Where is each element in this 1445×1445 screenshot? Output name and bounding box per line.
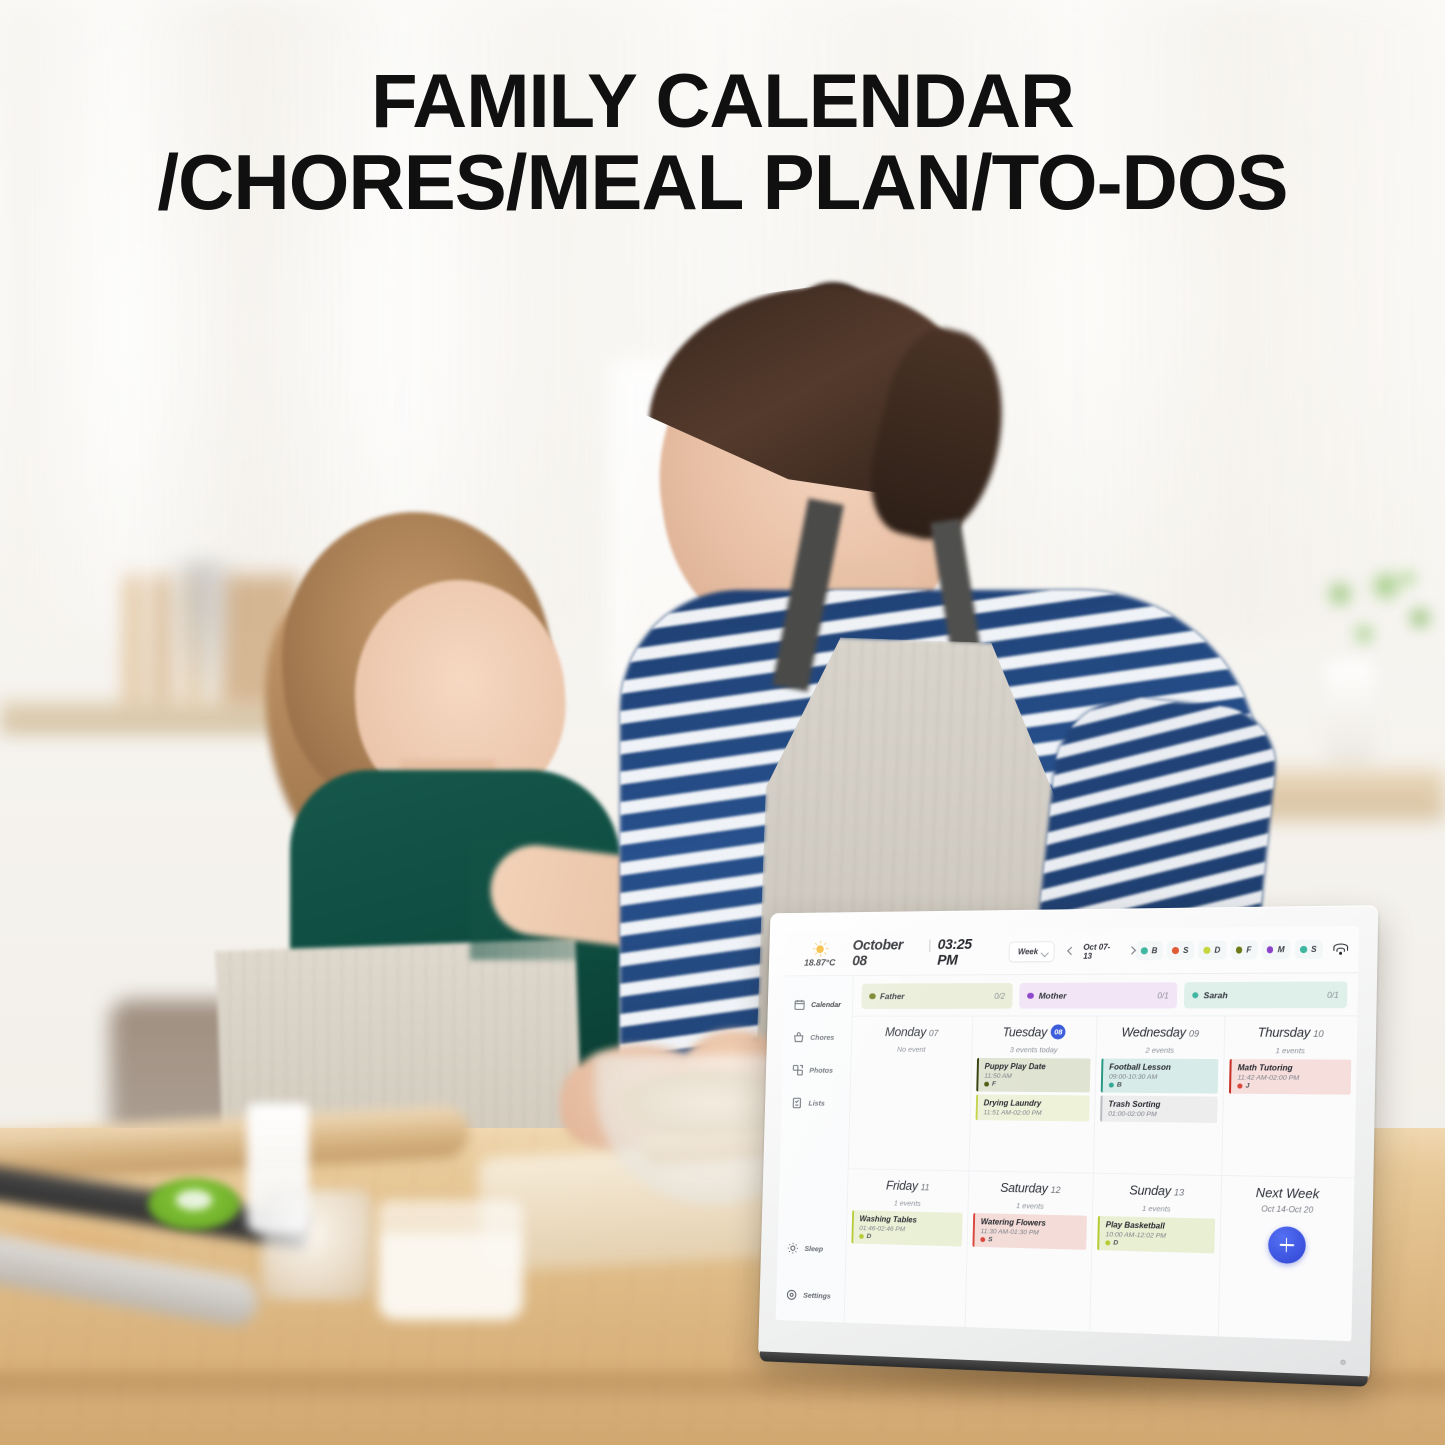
add-event-button[interactable] bbox=[1267, 1226, 1305, 1264]
member-chip-initial: S bbox=[1183, 946, 1189, 955]
date-time-display: October 08 | 03:25 PM bbox=[852, 936, 996, 969]
chore-summary-count: 0/1 bbox=[1157, 991, 1168, 1000]
event-assignee-initial: D bbox=[1113, 1240, 1118, 1247]
member-chip-d[interactable]: D bbox=[1198, 941, 1226, 960]
event-assignee: F bbox=[984, 1081, 1085, 1089]
member-chip-m[interactable]: M bbox=[1261, 940, 1291, 960]
day-header: Friday11 bbox=[853, 1176, 964, 1196]
event-assignee: J bbox=[1237, 1083, 1345, 1091]
weather-widget[interactable]: 18.87°C bbox=[785, 938, 854, 968]
day-header: Monday07 bbox=[857, 1023, 968, 1041]
chore-summary-father[interactable]: Father 0/2 bbox=[861, 983, 1013, 1009]
date-time-separator: | bbox=[928, 936, 932, 952]
chores-icon bbox=[793, 1031, 805, 1044]
wifi-icon[interactable] bbox=[1332, 942, 1349, 955]
day-name: Thursday bbox=[1258, 1026, 1311, 1040]
event-title: Football Lesson bbox=[1109, 1063, 1213, 1073]
event-assignee: S bbox=[980, 1236, 1081, 1246]
member-chip-b[interactable]: B bbox=[1136, 941, 1164, 960]
sidebar-item-photos[interactable]: Photos bbox=[782, 1053, 851, 1086]
event-item[interactable]: Football Lesson 09:00-10:30 AM B bbox=[1101, 1059, 1219, 1094]
event-assignee-initial: F bbox=[992, 1081, 996, 1088]
chevron-right-icon[interactable] bbox=[1128, 945, 1136, 956]
day-cell-next-week[interactable]: Next Week Oct 14-Oct 20 bbox=[1219, 1176, 1355, 1341]
calendar-week-grid: Monday07 No event Tuesday08 3 events tod… bbox=[845, 1016, 1358, 1341]
day-number: 11 bbox=[921, 1182, 930, 1192]
event-list: Math Tutoring 11:42 AM-02:00 PM J bbox=[1229, 1059, 1351, 1095]
chevron-left-icon[interactable] bbox=[1066, 946, 1074, 957]
sun-icon bbox=[812, 940, 828, 957]
day-header: Saturday12 bbox=[974, 1178, 1088, 1198]
event-title: Play Basketball bbox=[1106, 1220, 1210, 1232]
event-time: 11:50 AM bbox=[984, 1072, 1085, 1080]
view-selector[interactable]: Week bbox=[1009, 941, 1055, 962]
day-event-count: 1 events bbox=[973, 1200, 1087, 1211]
glass-jar bbox=[262, 1190, 372, 1300]
member-chip-initial: F bbox=[1246, 945, 1251, 954]
event-assignee: D bbox=[1105, 1239, 1209, 1249]
day-cell-monday[interactable]: Monday07 No event bbox=[849, 1017, 974, 1172]
sun-icon bbox=[787, 1241, 799, 1254]
event-title: Trash Sorting bbox=[1108, 1100, 1212, 1110]
event-item[interactable]: Washing Tables 01:46-02:46 PM D bbox=[851, 1210, 962, 1246]
day-header: Thursday10 bbox=[1230, 1024, 1352, 1043]
current-date: October 08 bbox=[852, 938, 921, 970]
event-list: Puppy Play Date 11:50 AM F Drying Laundr… bbox=[976, 1058, 1091, 1121]
event-time: 11:42 AM-02:00 PM bbox=[1237, 1074, 1345, 1082]
week-range-nav: Oct 07-13 bbox=[1066, 942, 1136, 961]
chore-summary-mother[interactable]: Mother 0/1 bbox=[1019, 982, 1177, 1008]
sidebar-item-label: Calendar bbox=[811, 1000, 841, 1009]
day-cell-thursday[interactable]: Thursday10 1 events Math Tutoring 11:42 … bbox=[1222, 1016, 1357, 1178]
app-body: Calendar Chores bbox=[776, 973, 1359, 1341]
sidebar-item-chores[interactable]: Chores bbox=[783, 1021, 852, 1054]
day-name: Wednesday bbox=[1121, 1026, 1186, 1040]
chevron-down-icon bbox=[1042, 949, 1048, 955]
day-cell-tuesday[interactable]: Tuesday08 3 events today Puppy Play Date… bbox=[969, 1017, 1097, 1174]
green-lid-hole bbox=[176, 1190, 212, 1210]
day-event-count: 1 events bbox=[1230, 1046, 1352, 1056]
day-number: 09 bbox=[1189, 1029, 1199, 1039]
sidebar-spacer bbox=[778, 1119, 849, 1233]
sidebar-item-label: Sleep bbox=[804, 1244, 823, 1253]
day-name: Sunday bbox=[1129, 1183, 1171, 1198]
member-chip-list: B S D F M bbox=[1136, 939, 1350, 960]
day-event-count: 1 events bbox=[852, 1198, 963, 1209]
member-chip-initial: D bbox=[1214, 946, 1220, 955]
next-week-title: Next Week bbox=[1256, 1186, 1320, 1202]
chore-summary-sarah[interactable]: Sarah 0/1 bbox=[1184, 981, 1348, 1008]
event-assignee-initial: D bbox=[867, 1233, 872, 1240]
tablet-screen[interactable]: 18.87°C October 08 | 03:25 PM Week Oct 0… bbox=[776, 926, 1359, 1341]
chore-summary-name: Father bbox=[880, 991, 905, 1001]
event-item[interactable]: Watering Flowers 11:30 AM-01:30 PM S bbox=[972, 1213, 1087, 1250]
event-item[interactable]: Play Basketball 10:00 AM-12:02 PM D bbox=[1097, 1216, 1215, 1254]
sidebar-item-settings[interactable]: Settings bbox=[776, 1277, 845, 1312]
poster-title: FAMILY CALENDAR /CHORES/MEAL PLAN/TO-DOS bbox=[0, 62, 1445, 224]
family-calendar-tablet[interactable]: 18.87°C October 08 | 03:25 PM Week Oct 0… bbox=[758, 905, 1378, 1381]
day-number: 13 bbox=[1174, 1187, 1184, 1197]
event-list: Football Lesson 09:00-10:30 AM B Trash S… bbox=[1100, 1059, 1218, 1123]
day-cell-saturday[interactable]: Saturday12 1 events Watering Flowers 11:… bbox=[966, 1171, 1094, 1331]
day-header: Tuesday08 bbox=[977, 1023, 1091, 1041]
temperature-value: 18.87°C bbox=[804, 958, 836, 969]
event-title: Washing Tables bbox=[859, 1214, 957, 1225]
event-title: Drying Laundry bbox=[984, 1099, 1085, 1109]
event-assignee-initial: S bbox=[988, 1236, 993, 1243]
event-title: Puppy Play Date bbox=[984, 1062, 1085, 1072]
lists-icon bbox=[791, 1096, 803, 1109]
event-title: Watering Flowers bbox=[981, 1217, 1082, 1229]
poster-title-line1: FAMILY CALENDAR bbox=[371, 59, 1074, 144]
day-event-count: 1 events bbox=[1098, 1203, 1215, 1215]
event-title: Math Tutoring bbox=[1238, 1063, 1346, 1073]
day-number: 12 bbox=[1051, 1185, 1061, 1195]
member-chip-f[interactable]: F bbox=[1230, 940, 1257, 959]
event-list: Washing Tables 01:46-02:46 PM D bbox=[851, 1210, 962, 1246]
sidebar-item-sleep[interactable]: Sleep bbox=[777, 1231, 846, 1266]
day-event-count: 2 events bbox=[1102, 1046, 1219, 1055]
day-header: Wednesday09 bbox=[1102, 1024, 1219, 1042]
gear-icon bbox=[785, 1288, 797, 1301]
plant-vase bbox=[1325, 660, 1375, 770]
event-list: Play Basketball 10:00 AM-12:02 PM D bbox=[1097, 1216, 1215, 1254]
current-time: 03:25 PM bbox=[937, 937, 996, 969]
event-time: 11:51 AM-02:00 PM bbox=[983, 1109, 1084, 1117]
day-cell-sunday[interactable]: Sunday13 1 events Play Basketball 10:00 … bbox=[1090, 1174, 1222, 1337]
event-assignee-initial: J bbox=[1245, 1083, 1249, 1090]
sidebar-item-label: Lists bbox=[808, 1098, 825, 1107]
metal-utensils bbox=[168, 560, 238, 710]
member-chip-s2[interactable]: S bbox=[1295, 940, 1323, 960]
event-assignee: D bbox=[859, 1233, 957, 1242]
chore-summary-name: Sarah bbox=[1203, 990, 1227, 1000]
day-cell-wednesday[interactable]: Wednesday09 2 events Football Lesson 09:… bbox=[1094, 1016, 1226, 1176]
event-item[interactable]: Math Tutoring 11:42 AM-02:00 PM J bbox=[1229, 1059, 1351, 1095]
week-range-label: Oct 07-13 bbox=[1083, 942, 1119, 960]
sidebar-item-label: Chores bbox=[810, 1033, 834, 1042]
view-selector-label: Week bbox=[1018, 947, 1038, 956]
event-list: Watering Flowers 11:30 AM-01:30 PM S bbox=[972, 1213, 1087, 1250]
sidebar-item-label: Settings bbox=[803, 1290, 831, 1300]
sidebar-item-calendar[interactable]: Calendar bbox=[784, 988, 853, 1021]
chore-summary-count: 0/1 bbox=[1327, 990, 1339, 999]
event-item[interactable]: Puppy Play Date 11:50 AM F bbox=[976, 1058, 1090, 1093]
day-cell-friday[interactable]: Friday11 1 events Washing Tables 01:46-0… bbox=[845, 1169, 970, 1327]
day-name: Monday bbox=[885, 1025, 926, 1039]
next-week-range: Oct 14-Oct 20 bbox=[1261, 1204, 1313, 1214]
chore-summary-count: 0/2 bbox=[994, 991, 1005, 1000]
member-chip-s1[interactable]: S bbox=[1167, 941, 1195, 960]
event-time: 01:00-02:00 PM bbox=[1108, 1111, 1212, 1119]
chore-summary-name: Mother bbox=[1039, 991, 1067, 1001]
event-time: 09:00-10:30 AM bbox=[1109, 1073, 1213, 1081]
photos-icon bbox=[792, 1063, 804, 1076]
day-number: 10 bbox=[1313, 1029, 1324, 1039]
poster-title-line2: /CHORES/MEAL PLAN/TO-DOS bbox=[0, 142, 1445, 224]
calendar-icon bbox=[793, 998, 805, 1011]
event-item[interactable]: Trash Sorting 01:00-02:00 PM bbox=[1100, 1096, 1218, 1123]
event-item[interactable]: Drying Laundry 11:51 AM-02:00 PM bbox=[976, 1095, 1090, 1122]
day-number-today-badge: 08 bbox=[1051, 1025, 1066, 1040]
member-chip-initial: B bbox=[1151, 946, 1157, 955]
day-name: Saturday bbox=[1000, 1181, 1048, 1196]
sidebar-item-label: Photos bbox=[809, 1065, 833, 1074]
chore-summary-row: Father 0/2 Mother 0/1 Sarah 0/1 bbox=[853, 973, 1358, 1016]
app-sidebar: Calendar Chores bbox=[776, 976, 854, 1323]
day-header: Sunday13 bbox=[1098, 1181, 1216, 1202]
day-name: Friday bbox=[886, 1179, 918, 1193]
app-content: Father 0/2 Mother 0/1 Sarah 0/1 bbox=[845, 973, 1359, 1341]
day-number: 07 bbox=[929, 1028, 939, 1038]
day-name: Tuesday bbox=[1002, 1025, 1047, 1039]
day-event-count: 3 events today bbox=[977, 1045, 1091, 1054]
day-event-count: No event bbox=[856, 1045, 966, 1054]
flour-jar bbox=[378, 1200, 523, 1320]
app-topbar: 18.87°C October 08 | 03:25 PM Week Oct 0… bbox=[785, 926, 1359, 976]
event-assignee: B bbox=[1109, 1082, 1213, 1090]
member-chip-initial: M bbox=[1278, 945, 1285, 954]
sidebar-item-lists[interactable]: Lists bbox=[781, 1086, 850, 1120]
power-led-icon bbox=[1340, 1360, 1345, 1365]
member-chip-initial: S bbox=[1311, 945, 1317, 954]
event-assignee-initial: B bbox=[1117, 1082, 1122, 1089]
